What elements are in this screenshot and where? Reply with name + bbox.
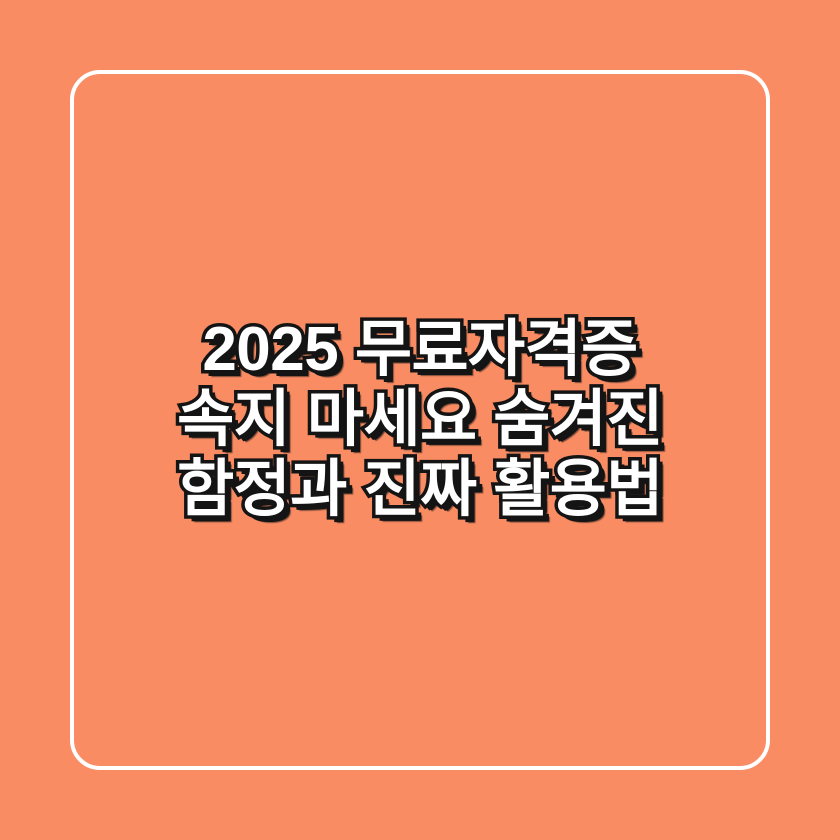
thumbnail-canvas: 2025 무료자격증 속지 마세요 숨겨진 함정과 진짜 활용법 (0, 0, 840, 840)
title-line-2: 속지 마세요 숨겨진 (60, 385, 780, 455)
title-line-1: 2025 무료자격증 (60, 315, 780, 385)
title-line-3: 함정과 진짜 활용법 (60, 455, 780, 525)
title-block: 2025 무료자격증 속지 마세요 숨겨진 함정과 진짜 활용법 (0, 0, 840, 840)
